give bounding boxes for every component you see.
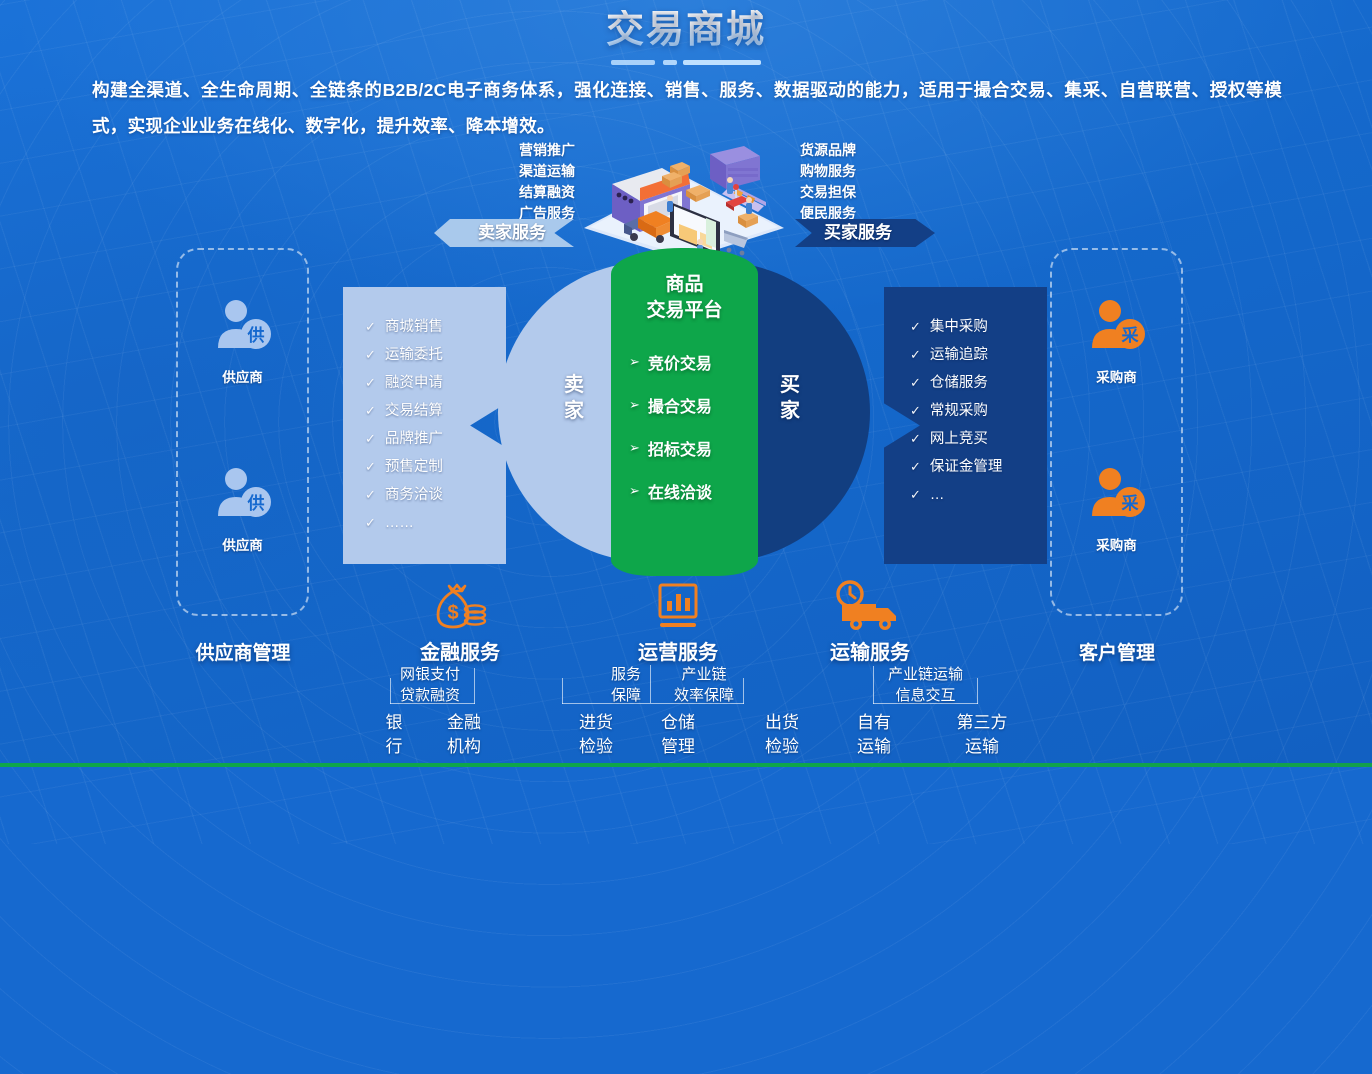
platform-title: 商品 交易平台 — [646, 272, 722, 324]
seller-feature-item[interactable]: ✓运输委托 — [343, 341, 506, 369]
financial-leaf[interactable]: 银 行 — [365, 711, 423, 759]
check-icon: ✓ — [365, 509, 376, 537]
buyer-feature-label: 保证金管理 — [930, 453, 1003, 481]
platform-feature-item[interactable]: ➢ 招标交易 — [629, 436, 758, 460]
seller-service-item: 结算融资 — [440, 182, 575, 203]
check-icon: ✓ — [365, 425, 376, 453]
leaf-line-1: 进货 — [567, 711, 625, 735]
svg-text:供: 供 — [246, 325, 264, 345]
leaf-line-2: 检验 — [567, 735, 625, 759]
customer-actor[interactable]: 采 采购商 — [1052, 466, 1181, 554]
buyer-services-banner: 买家服务 — [795, 219, 935, 247]
operations-service-title: 运营服务 — [608, 636, 748, 665]
bracket-line — [562, 678, 563, 704]
connector-line-1: 服务 — [602, 664, 650, 685]
operations-connector-label: 服务 保障 — [602, 664, 650, 706]
operations-service-block[interactable]: 运营服务 — [608, 578, 748, 665]
platform-feature-label: 撮合交易 — [648, 393, 712, 417]
footer-accent-bar — [0, 763, 1372, 767]
buyer-service-item: 货源品牌 — [800, 140, 935, 161]
customer-management-box: 采 采购商 采 采购商 — [1050, 248, 1183, 616]
leaf-line-1: 出货 — [753, 711, 811, 735]
supplier-management-caption: 供应商管理 — [148, 638, 338, 665]
check-icon: ✓ — [910, 313, 921, 341]
platform-feature-label: 招标交易 — [648, 436, 712, 460]
leaf-line-2: 行 — [365, 735, 423, 759]
seller-feature-label: 商务洽谈 — [385, 481, 443, 509]
leaf-line-1: 自有 — [845, 711, 903, 735]
connector-line-1: 产业链 — [654, 664, 754, 685]
circle-seller-label: 卖家 — [560, 372, 588, 424]
supplier-person-icon: 供 — [212, 466, 274, 526]
connector-line-2: 保障 — [602, 685, 650, 706]
bracket-divider — [650, 665, 651, 703]
buyer-feature-label: 仓储服务 — [930, 369, 988, 397]
check-icon: ✓ — [365, 397, 376, 425]
transport-leaf[interactable]: 自有 运输 — [845, 711, 903, 759]
buyer-feature-item[interactable]: ✓… — [884, 481, 1047, 509]
customer-management-caption: 客户管理 — [1022, 638, 1212, 665]
circle-buyer-label: 买家 — [776, 372, 804, 424]
platform-feature-label: 竞价交易 — [648, 350, 712, 374]
seller-feature-label: …… — [385, 509, 414, 537]
seller-feature-label: 交易结算 — [385, 397, 443, 425]
supplier-actor-label: 供应商 — [178, 534, 307, 554]
customer-actor-label: 采购商 — [1052, 366, 1181, 386]
financial-service-block[interactable]: $ 金融服务 — [390, 578, 530, 665]
check-icon: ✓ — [365, 453, 376, 481]
buyer-service-item: 交易担保 — [800, 182, 935, 203]
buyer-person-icon: 采 — [1086, 466, 1148, 526]
check-icon: ✓ — [910, 341, 921, 369]
seller-feature-item[interactable]: ✓商城销售 — [343, 313, 506, 341]
check-icon: ✓ — [365, 369, 376, 397]
seller-feature-label: 运输委托 — [385, 341, 443, 369]
buyer-feature-label: 网上竞买 — [930, 425, 988, 453]
chevron-right-icon: ➢ — [629, 440, 640, 456]
supplier-actor[interactable]: 供 供应商 — [178, 298, 307, 386]
financial-service-title: 金融服务 — [390, 636, 530, 665]
operations-connector-label: 产业链 效率保障 — [654, 664, 754, 706]
platform-feature-list: ➢ 竞价交易 ➢ 撮合交易 ➢ 招标交易 ➢ 在线洽谈 — [611, 350, 758, 522]
check-icon: ✓ — [910, 481, 921, 509]
connector-line-2: 效率保障 — [654, 685, 754, 706]
buyer-feature-label: … — [930, 481, 945, 509]
seller-feature-label: 商城销售 — [385, 313, 443, 341]
buyer-services-list: 货源品牌 购物服务 交易担保 便民服务 — [800, 140, 935, 224]
leaf-line-1: 第三方 — [947, 711, 1017, 735]
transport-connector-label: 产业链运输 信息交互 — [868, 664, 983, 706]
platform-feature-item[interactable]: ➢ 撮合交易 — [629, 393, 758, 417]
operations-leaf[interactable]: 仓储 管理 — [649, 711, 707, 759]
seller-service-item: 营销推广 — [440, 140, 575, 161]
seller-feature-label: 预售定制 — [385, 453, 443, 481]
supplier-person-icon: 供 — [212, 298, 274, 358]
svg-text:$: $ — [447, 602, 458, 624]
bar-chart-icon — [608, 578, 748, 634]
seller-feature-item[interactable]: ✓融资申请 — [343, 369, 506, 397]
delivery-truck-icon — [800, 578, 940, 634]
check-icon: ✓ — [910, 369, 921, 397]
supplier-actor[interactable]: 供 供应商 — [178, 466, 307, 554]
buyer-feature-item[interactable]: ✓集中采购 — [884, 313, 1047, 341]
buyer-person-icon: 采 — [1086, 298, 1148, 358]
leaf-line-1: 金融 — [435, 711, 493, 735]
leaf-line-2: 检验 — [753, 735, 811, 759]
title-underline-decoration — [611, 60, 761, 65]
buyer-feature-label: 常规采购 — [930, 397, 988, 425]
check-icon: ✓ — [365, 313, 376, 341]
seller-feature-label: 融资申请 — [385, 369, 443, 397]
chevron-right-icon: ➢ — [629, 354, 640, 370]
seller-feature-item[interactable]: ✓预售定制 — [343, 453, 506, 481]
trading-platform-panel: 商品 交易平台 ➢ 竞价交易 ➢ 撮合交易 ➢ 招标交易 ➢ 在线洽谈 — [611, 248, 758, 576]
seller-feature-label: 品牌推广 — [385, 425, 443, 453]
customer-actor-label: 采购商 — [1052, 534, 1181, 554]
platform-title-line2: 交易平台 — [646, 298, 722, 324]
financial-connector-label: 网银支付 贷款融资 — [385, 664, 475, 706]
seller-services-banner: 卖家服务 — [434, 219, 574, 247]
svg-text:采: 采 — [1120, 326, 1138, 345]
transport-service-title: 运输服务 — [800, 636, 940, 665]
leaf-line-2: 运输 — [947, 735, 1017, 759]
connector-line-2: 信息交互 — [868, 685, 983, 706]
platform-feature-item[interactable]: ➢ 竞价交易 — [629, 350, 758, 374]
buyer-feature-item[interactable]: ✓运输追踪 — [884, 341, 1047, 369]
supplier-management-box: 供 供应商 供 供应商 — [176, 248, 309, 616]
buyer-feature-label: 运输追踪 — [930, 341, 988, 369]
operations-leaf[interactable]: 进货 检验 — [567, 711, 625, 759]
page-title: 交易商城 — [606, 10, 766, 52]
seller-feature-item[interactable]: ✓商务洽谈 — [343, 481, 506, 509]
leaf-line-2: 管理 — [649, 735, 707, 759]
check-icon: ✓ — [365, 341, 376, 369]
header: 交易商城 — [0, 10, 1372, 65]
chevron-right-icon: ➢ — [629, 483, 640, 499]
leaf-line-2: 机构 — [435, 735, 493, 759]
buyer-feature-item[interactable]: ✓保证金管理 — [884, 453, 1047, 481]
check-icon: ✓ — [910, 453, 921, 481]
leaf-line-1: 银 — [365, 711, 423, 735]
connector-line-1: 网银支付 — [385, 664, 475, 685]
supplier-actor-label: 供应商 — [178, 366, 307, 386]
financial-leaf[interactable]: 金融 机构 — [435, 711, 493, 759]
seller-feature-item[interactable]: ✓…… — [343, 509, 506, 537]
seller-services-list: 营销推广 渠道运输 结算融资 广告服务 — [440, 140, 575, 224]
transport-leaf[interactable]: 第三方 运输 — [947, 711, 1017, 759]
leaf-line-1: 仓储 — [649, 711, 707, 735]
buyer-feature-label: 集中采购 — [930, 313, 988, 341]
buyer-service-item: 购物服务 — [800, 161, 935, 182]
chevron-right-icon: ➢ — [629, 397, 640, 413]
platform-feature-item[interactable]: ➢ 在线洽谈 — [629, 479, 758, 503]
connector-line-2: 贷款融资 — [385, 685, 475, 706]
check-icon: ✓ — [365, 481, 376, 509]
leaf-line-2: 运输 — [845, 735, 903, 759]
svg-text:采: 采 — [1120, 494, 1138, 513]
money-bag-icon: $ — [390, 578, 530, 634]
buyer-feature-item[interactable]: ✓仓储服务 — [884, 369, 1047, 397]
transport-service-block[interactable]: 运输服务 — [800, 578, 940, 665]
seller-service-item: 渠道运输 — [440, 161, 575, 182]
platform-title-line1: 商品 — [646, 272, 722, 298]
platform-circle: 卖家 买家 商品 交易平台 ➢ 竞价交易 ➢ 撮合交易 ➢ 招标交易 ➢ 在线洽… — [498, 262, 870, 562]
warehouse-isometric-illustration — [578, 132, 790, 262]
customer-actor[interactable]: 采 采购商 — [1052, 298, 1181, 386]
connector-line-1: 产业链运输 — [868, 664, 983, 685]
operations-leaf[interactable]: 出货 检验 — [753, 711, 811, 759]
platform-feature-label: 在线洽谈 — [648, 479, 712, 503]
svg-text:供: 供 — [246, 493, 264, 513]
